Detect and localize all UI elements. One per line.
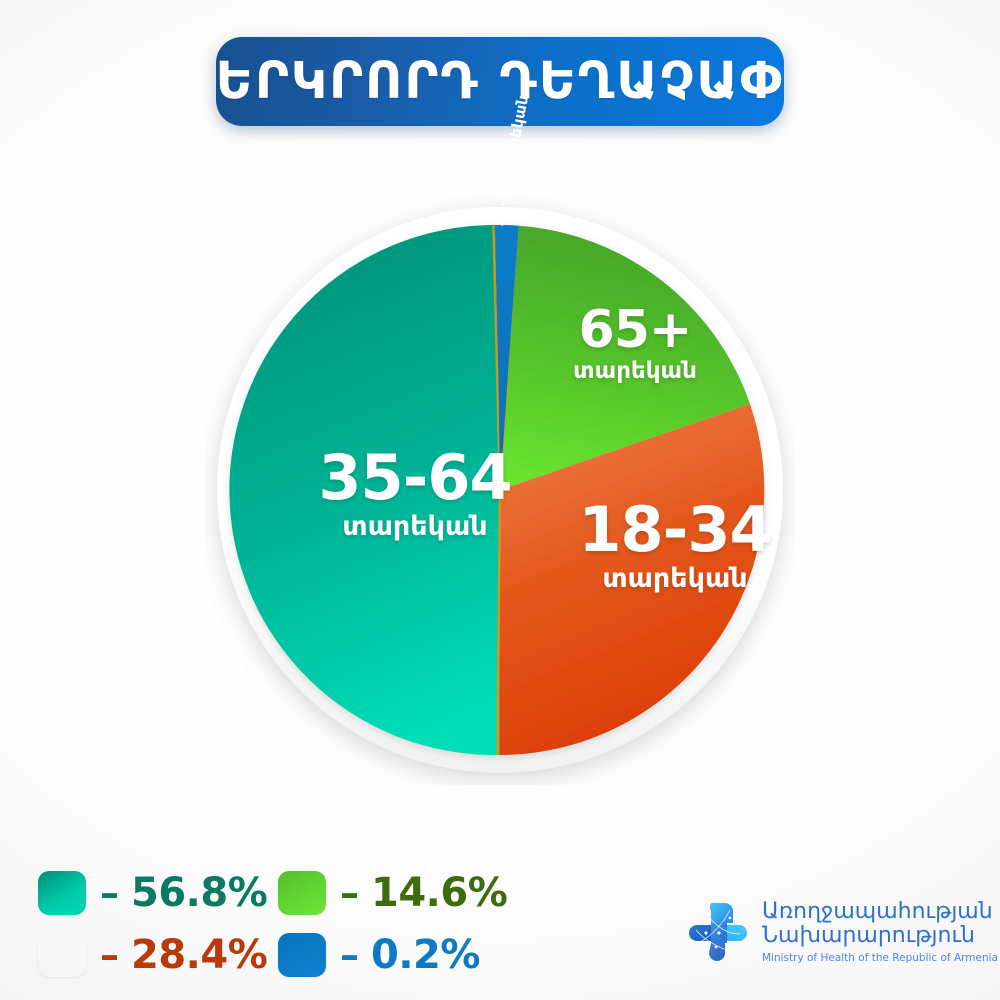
pie-slice-35-64 xyxy=(224,225,505,760)
pie-chart: 35-64 տարեկան 18-34 տարեկան 65+ տարեկան … xyxy=(205,195,795,785)
page-title: ԵՐԿՐՈՐԴ ԴԵՂԱՉԱՓ xyxy=(216,56,785,107)
legend-item-12-17: – 0.2% xyxy=(278,933,518,977)
legend-item-18-34: – 28.4% xyxy=(38,933,278,977)
legend-swatch-green xyxy=(278,871,326,915)
legend-value-18-34: 28.4% xyxy=(131,935,267,975)
infographic-canvas: ԵՐԿՐՈՐԴ ԴԵՂԱՉԱՓ xyxy=(0,0,1000,1000)
legend-value-35-64: 56.8% xyxy=(131,873,267,913)
legend: – 56.8% – 14.6% – 28.4% – 0.2% xyxy=(38,862,538,986)
legend-dash: – xyxy=(340,936,359,974)
ministry-name-line1: Առողջապահության xyxy=(762,900,998,925)
ministry-name-line2: Նախարարություն xyxy=(762,924,998,949)
ministry-cross-icon xyxy=(686,900,750,964)
title-banner: ԵՐԿՐՈՐԴ ԴԵՂԱՉԱՓ xyxy=(216,37,784,126)
legend-swatch-orange xyxy=(38,933,86,977)
legend-dash: – xyxy=(100,874,119,912)
legend-value-12-17: 0.2% xyxy=(371,935,480,975)
legend-item-65-plus: – 14.6% xyxy=(278,871,518,915)
legend-swatch-teal xyxy=(38,871,86,915)
legend-dash: – xyxy=(340,874,359,912)
pie-chart-svg xyxy=(205,195,795,785)
ministry-logo: Առողջապահության Նախարարություն Ministry … xyxy=(686,893,971,971)
ministry-logo-text: Առողջապահության Նախարարություն Ministry … xyxy=(762,900,998,965)
ministry-subtitle: Ministry of Health of the Republic of Ar… xyxy=(762,952,998,965)
legend-swatch-blue xyxy=(278,933,326,977)
legend-value-65-plus: 14.6% xyxy=(371,873,507,913)
legend-dash: – xyxy=(100,936,119,974)
legend-item-35-64: – 56.8% xyxy=(38,871,278,915)
